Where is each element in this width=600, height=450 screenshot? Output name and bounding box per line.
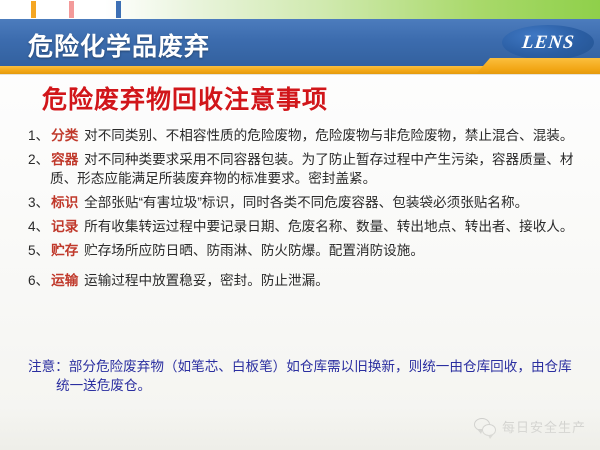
tick-mark-pink (69, 1, 74, 18)
top-decorative-strip (0, 0, 600, 19)
list-item-text: 贮存场所应防日晒、防雨淋、防火防爆。配置消防设施。 (84, 243, 424, 258)
slide-header-title: 危险化学品废弃 (28, 27, 210, 63)
list-item-number: 4、 (28, 219, 49, 234)
note-text: 部分危险废弃物（如笔芯、白板笔）如仓库需以旧换新，则统一由仓库回收，由仓库统一送… (56, 359, 572, 393)
list-item: 5、贮存 贮存场所应防日晒、防雨淋、防火防爆。配置消防设施。 (28, 241, 580, 260)
list-item: 4、记录 所有收集转运过程中要记录日期、危废名称、数量、转出地点、转出者、接收人… (28, 217, 580, 236)
list-item-number: 2、 (28, 152, 49, 167)
list-item-keyword: 标识 (49, 195, 80, 210)
note-block: 注意：部分危险废弃物（如笔芯、白板笔）如仓库需以旧换新，则统一由仓库回收，由仓库… (28, 357, 584, 395)
band-divider-line (0, 74, 600, 75)
list-item-keyword: 记录 (49, 219, 80, 234)
list-item-keyword: 容器 (49, 152, 80, 167)
list-item: 1、分类 对不同类别、不相容性质的危险废物，危险废物与非危险废物，禁止混合、混装… (28, 126, 580, 145)
list-item-text: 对不同种类要求采用不同容器包装。为了防止暂存过程中产生污染，容器质量、材质、形态… (50, 152, 574, 186)
content-list: 1、分类 对不同类别、不相容性质的危险废物，危险废物与非危险废物，禁止混合、混装… (28, 126, 580, 295)
list-item-keyword: 贮存 (49, 243, 80, 258)
list-item-text: 全部张贴“有害垃圾”标识，同时各类不同危废容器、包装袋必须张贴名称。 (84, 195, 528, 210)
slide-canvas: 危险化学品废弃 LENS 危险废弃物回收注意事项 1、分类 对不同类别、不相容性… (0, 0, 600, 450)
wechat-icon (474, 418, 496, 436)
tick-mark-blue (116, 1, 121, 18)
list-item-number: 5、 (28, 243, 49, 258)
list-item: 6、运输 运输过程中放置稳妥，密封。防止泄漏。 (28, 271, 580, 290)
tick-mark-orange (31, 1, 36, 18)
green-gradient-strip (105, 0, 600, 19)
list-item-number: 1、 (28, 128, 49, 143)
footer-watermark: 每日安全生产 (474, 417, 586, 436)
list-item-text: 所有收集转运过程中要记录日期、危废名称、数量、转出地点、转出者、接收人。 (84, 219, 573, 234)
list-item-number: 3、 (28, 195, 49, 210)
orange-wedge-accent (476, 58, 600, 74)
lens-logo-text: LENS (521, 32, 576, 54)
list-item: 2、容器 对不同种类要求采用不同容器包装。为了防止暂存过程中产生污染，容器质量、… (28, 150, 580, 188)
lens-logo: LENS (502, 25, 594, 60)
list-item-keyword: 运输 (49, 273, 80, 288)
list-item-number: 6、 (28, 273, 49, 288)
section-title: 危险废弃物回收注意事项 (42, 80, 328, 116)
list-item-keyword: 分类 (49, 128, 80, 143)
note-label: 注意： (28, 359, 69, 374)
list-item: 3、标识 全部张贴“有害垃圾”标识，同时各类不同危废容器、包装袋必须张贴名称。 (28, 193, 580, 212)
list-item-text: 对不同类别、不相容性质的危险废物，危险废物与非危险废物，禁止混合、混装。 (84, 128, 573, 143)
watermark-text: 每日安全生产 (502, 417, 586, 436)
list-item-text: 运输过程中放置稳妥，密封。防止泄漏。 (84, 273, 329, 288)
